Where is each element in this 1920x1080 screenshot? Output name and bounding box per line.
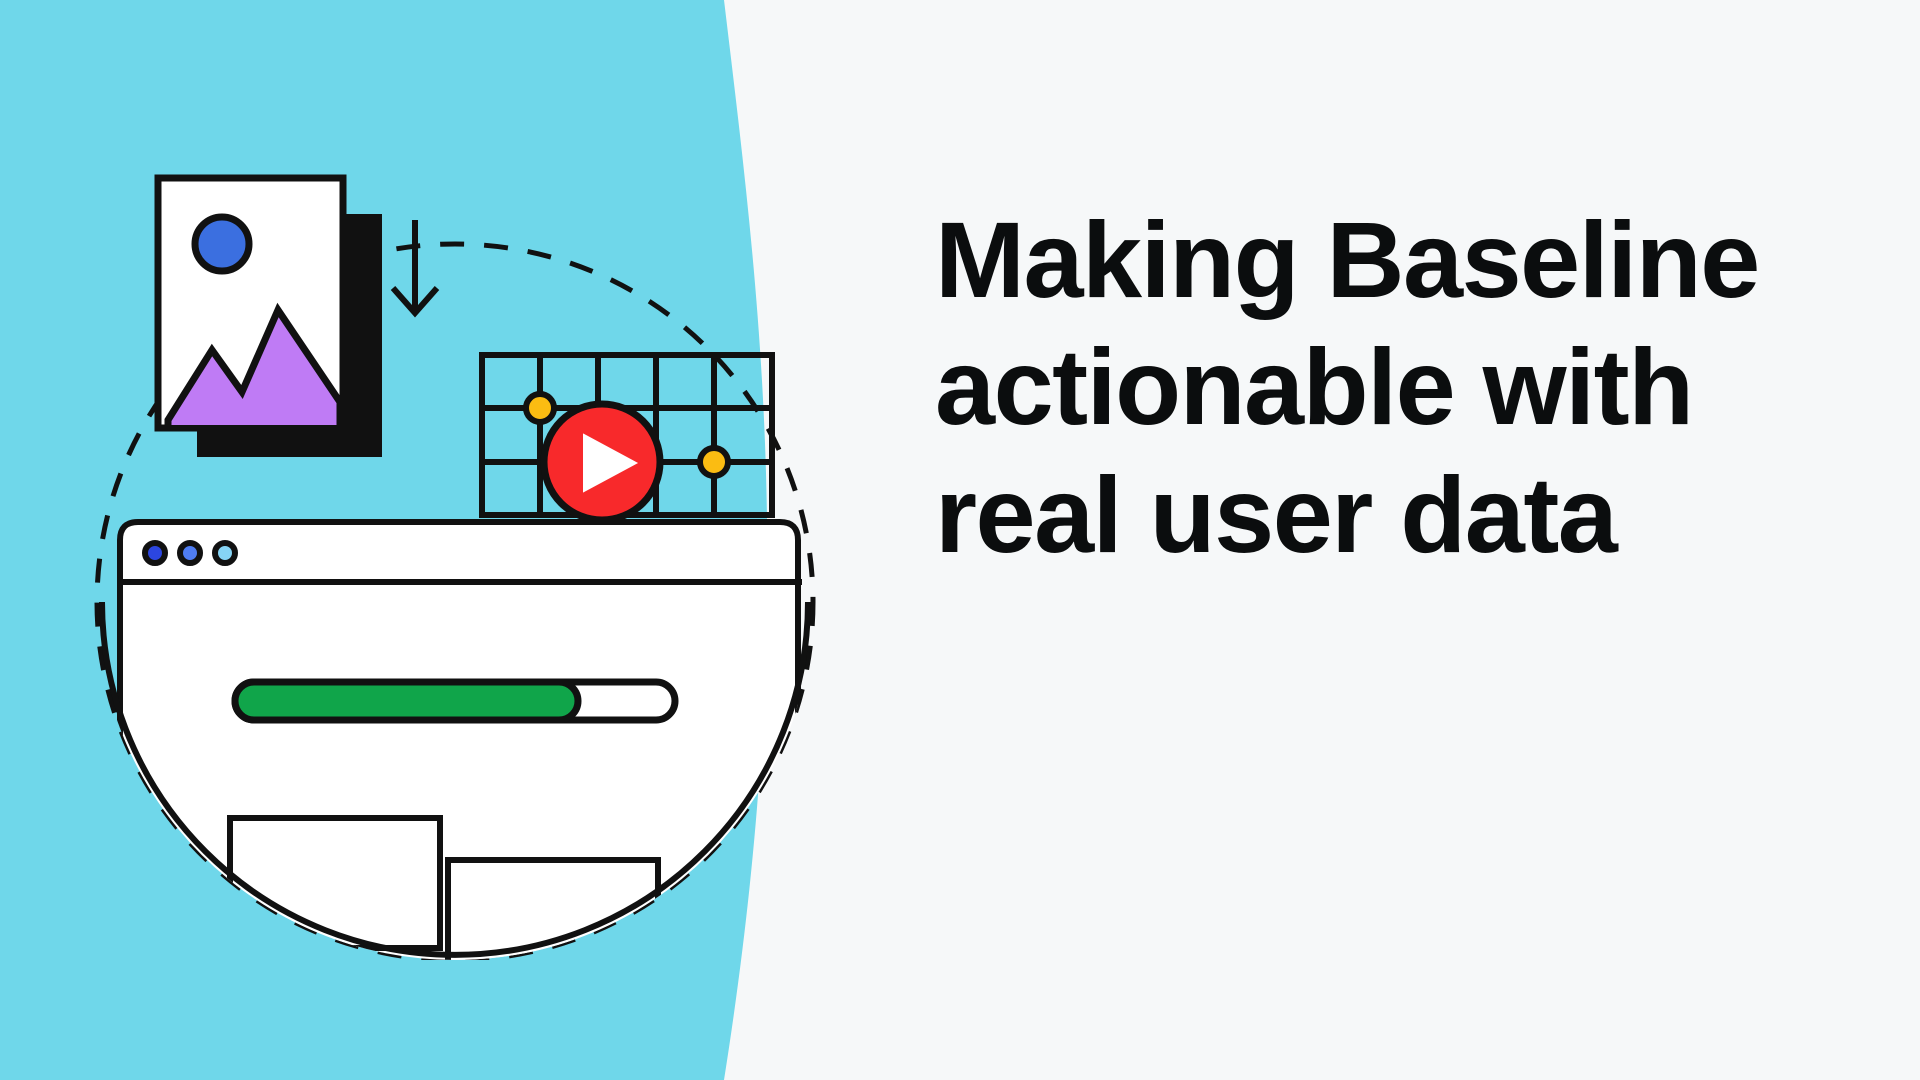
browser-window-mockup: [120, 522, 802, 960]
headline-block: Making Baseline actionable with real use…: [935, 196, 1815, 578]
window-dot-1[interactable]: [145, 543, 165, 563]
blue-circle-dot: [195, 217, 249, 271]
play-button-icon[interactable]: [544, 404, 660, 520]
content-block-left: [230, 818, 440, 948]
window-dot-3[interactable]: [215, 543, 235, 563]
down-arrow-icon: [393, 220, 437, 313]
window-dot-2[interactable]: [180, 543, 200, 563]
grid-node-yellow-right: [700, 448, 728, 476]
loading-progress-fill: [235, 682, 578, 720]
slide-canvas: Making Baseline actionable with real use…: [0, 0, 1920, 1080]
baseline-performance-illustration: [90, 170, 850, 960]
page-title: Making Baseline actionable with real use…: [935, 196, 1815, 578]
grid-node-yellow-left: [526, 394, 554, 422]
layout-grid-panel: [482, 355, 772, 520]
image-placeholder-card: [158, 178, 382, 457]
